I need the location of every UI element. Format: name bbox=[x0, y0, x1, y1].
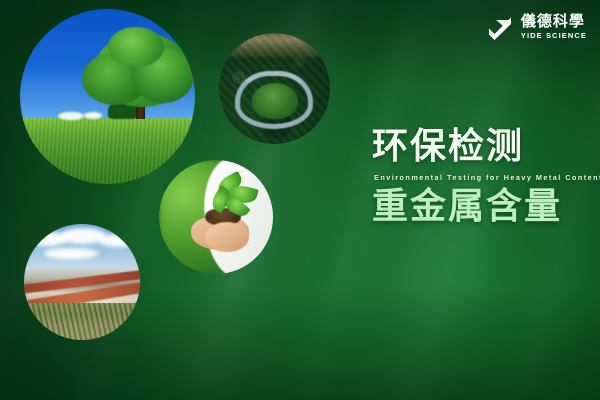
cloud-shape bbox=[84, 112, 102, 119]
check-arrow-logo-icon bbox=[485, 12, 515, 42]
headline-secondary: 重金属含量 bbox=[372, 188, 584, 226]
grassy-shore bbox=[24, 303, 140, 340]
tree-canopy bbox=[108, 27, 164, 67]
environmental-testing-banner: 儀德科學 YIDE SCIENCE 环保检测 Environmental Tes… bbox=[0, 0, 600, 400]
cloud-shape bbox=[98, 234, 140, 247]
cloud-shape bbox=[44, 248, 98, 259]
headline-subtitle: Environmental Testing for Heavy Metal Co… bbox=[374, 173, 584, 182]
river-island bbox=[252, 83, 298, 119]
cloud-shape bbox=[58, 112, 84, 120]
photo-circle-tree-field bbox=[20, 9, 195, 184]
hand-palm bbox=[205, 222, 249, 252]
headline-primary: 环保检测 bbox=[372, 128, 584, 166]
photo-circle-contaminated-pond bbox=[24, 224, 140, 340]
headline-block: 环保检测 Environmental Testing for Heavy Met… bbox=[372, 128, 584, 226]
brand-logo[interactable]: 儀德科學 YIDE SCIENCE bbox=[485, 12, 587, 42]
logo-english-name: YIDE SCIENCE bbox=[521, 32, 587, 40]
logo-text-block: 儀德科學 YIDE SCIENCE bbox=[521, 14, 587, 40]
logo-chinese-name: 儀德科學 bbox=[521, 14, 587, 29]
photo-circle-hands-seedling bbox=[159, 160, 273, 274]
photo-circle-river-bend bbox=[219, 33, 330, 144]
